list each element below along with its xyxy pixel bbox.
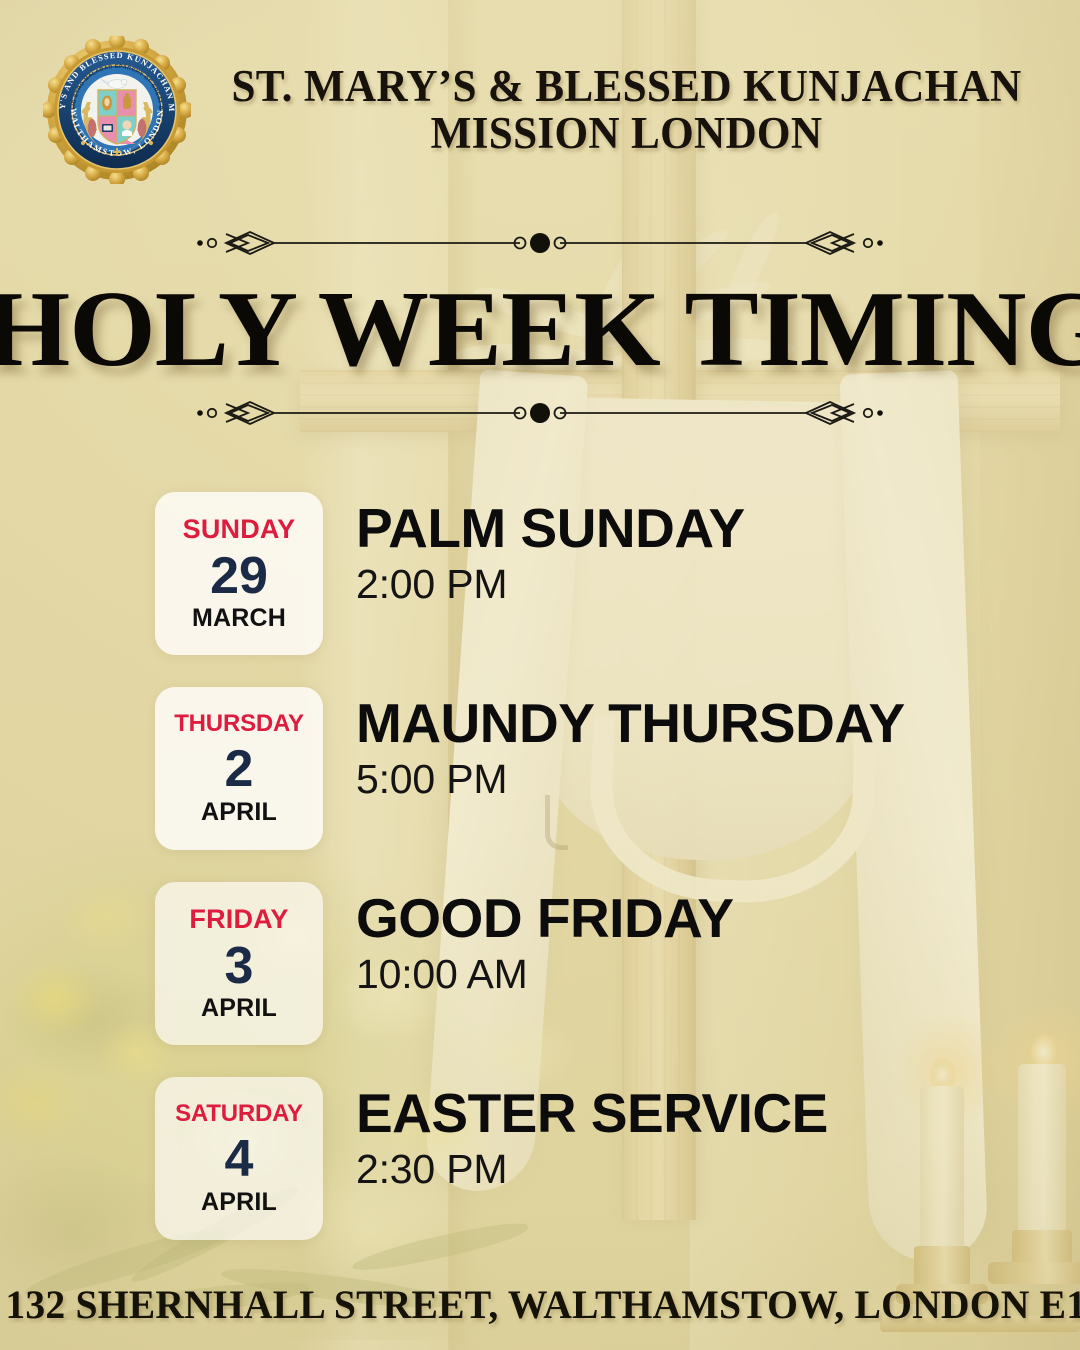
date-card: FRIDAY 3 APRIL xyxy=(155,882,323,1045)
date-card-weekday: SATURDAY xyxy=(175,1102,303,1126)
date-card: SATURDAY 4 APRIL xyxy=(155,1077,323,1240)
event-time: 10:00 AM xyxy=(356,952,734,997)
schedule-row: SATURDAY 4 APRIL EASTER SERVICE 2:30 PM xyxy=(0,1071,1080,1266)
date-card-day-number: 4 xyxy=(225,1132,254,1187)
date-card-day-number: 29 xyxy=(210,549,268,604)
organisation-name-line2: MISSION LONDON xyxy=(231,110,1021,157)
event-details: GOOD FRIDAY 10:00 AM xyxy=(356,890,734,997)
mission-seal-logo: ST.MARY'S AND BLESSED KUNJACHAN MISSION … xyxy=(43,36,191,184)
organisation-name: ST. MARY’S & BLESSED KUNJACHAN MISSION L… xyxy=(215,63,1038,157)
ornament-divider-top xyxy=(0,228,1080,258)
date-card: SUNDAY 29 MARCH xyxy=(155,492,323,655)
event-details: EASTER SERVICE 2:30 PM xyxy=(356,1085,828,1192)
poster-header: ST.MARY'S AND BLESSED KUNJACHAN MISSION … xyxy=(0,36,1080,184)
schedule-row: SUNDAY 29 MARCH PALM SUNDAY 2:00 PM xyxy=(0,486,1080,681)
schedule-row: FRIDAY 3 APRIL GOOD FRIDAY 10:00 AM xyxy=(0,876,1080,1071)
organisation-name-line1: ST. MARY’S & BLESSED KUNJACHAN xyxy=(231,63,1021,110)
date-card-day-number: 2 xyxy=(225,742,254,797)
date-card-month: APRIL xyxy=(201,800,277,825)
event-details: PALM SUNDAY 2:00 PM xyxy=(356,500,745,607)
date-card-weekday: THURSDAY xyxy=(174,712,304,736)
date-card-day-number: 3 xyxy=(225,939,254,994)
ornament-divider-bottom xyxy=(0,398,1080,428)
event-name: MAUNDY THURSDAY xyxy=(356,695,905,751)
schedule-row: THURSDAY 2 APRIL MAUNDY THURSDAY 5:00 PM xyxy=(0,681,1080,876)
schedule-list: SUNDAY 29 MARCH PALM SUNDAY 2:00 PM THUR… xyxy=(0,486,1080,1266)
event-name: GOOD FRIDAY xyxy=(356,890,734,946)
event-details: MAUNDY THURSDAY 5:00 PM xyxy=(356,695,905,802)
poster-root: ST.MARY'S AND BLESSED KUNJACHAN MISSION … xyxy=(0,0,1080,1350)
date-card-month: APRIL xyxy=(201,1190,277,1215)
date-card-weekday: FRIDAY xyxy=(189,906,288,933)
date-card-weekday: SUNDAY xyxy=(183,516,296,543)
poster-content: ST.MARY'S AND BLESSED KUNJACHAN MISSION … xyxy=(0,0,1080,1350)
event-time: 2:00 PM xyxy=(356,562,745,607)
address-footer: 132 SHERNHALL STREET, WALTHAMSTOW, LONDO… xyxy=(5,1281,1074,1328)
page-title: HOLY WEEK TIMINGS xyxy=(0,268,1080,392)
date-card-month: MARCH xyxy=(192,606,286,631)
event-name: EASTER SERVICE xyxy=(356,1085,828,1141)
event-time: 2:30 PM xyxy=(356,1147,828,1192)
date-card-month: APRIL xyxy=(201,996,277,1021)
date-card: THURSDAY 2 APRIL xyxy=(155,687,323,850)
event-time: 5:00 PM xyxy=(356,757,905,802)
event-name: PALM SUNDAY xyxy=(356,500,745,556)
